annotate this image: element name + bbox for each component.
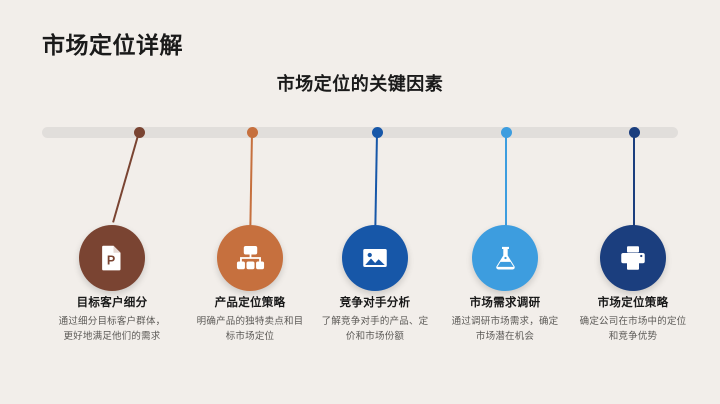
printer-icon	[618, 243, 648, 273]
node-icon-circle-2[interactable]	[217, 225, 283, 291]
node-icon-circle-1[interactable]: P	[79, 225, 145, 291]
node-icon-circle-3[interactable]	[342, 225, 408, 291]
node-description: 确定公司在市场中的定位和竞争优势	[575, 314, 691, 344]
image-icon	[360, 243, 390, 273]
node-icon-circle-5[interactable]	[600, 225, 666, 291]
node-description: 通过调研市场需求，确定市场潜在机会	[447, 314, 563, 344]
connector-dot-5	[629, 127, 640, 138]
node-title: 目标客户细分	[42, 294, 182, 310]
node-description: 明确产品的独特卖点和目标市场定位	[192, 314, 308, 344]
file-presentation-icon: P	[97, 243, 127, 273]
connector-dot-3	[372, 127, 383, 138]
flask-icon	[490, 243, 521, 274]
node-title: 市场需求调研	[435, 294, 575, 310]
connector-line-5	[633, 132, 635, 226]
connector-dot-1	[134, 127, 145, 138]
svg-text:P: P	[107, 253, 115, 267]
slide-canvas: 市场定位详解 市场定位的关键因素 目标客户细分 通过细分目标客户群体，更好地满足…	[0, 0, 720, 404]
sitemap-icon	[235, 243, 266, 274]
node-title: 产品定位策略	[180, 294, 320, 310]
timeline-node-1[interactable]: 目标客户细分 通过细分目标客户群体，更好地满足他们的需求	[42, 0, 182, 404]
node-title: 市场定位策略	[563, 294, 703, 310]
connector-line-4	[505, 132, 507, 226]
node-description: 了解竞争对手的产品、定价和市场份额	[317, 314, 433, 344]
connector-dot-2	[247, 127, 258, 138]
node-title: 竞争对手分析	[305, 294, 445, 310]
connector-dot-4	[501, 127, 512, 138]
node-description: 通过细分目标客户群体，更好地满足他们的需求	[54, 314, 170, 344]
node-icon-circle-4[interactable]	[472, 225, 538, 291]
